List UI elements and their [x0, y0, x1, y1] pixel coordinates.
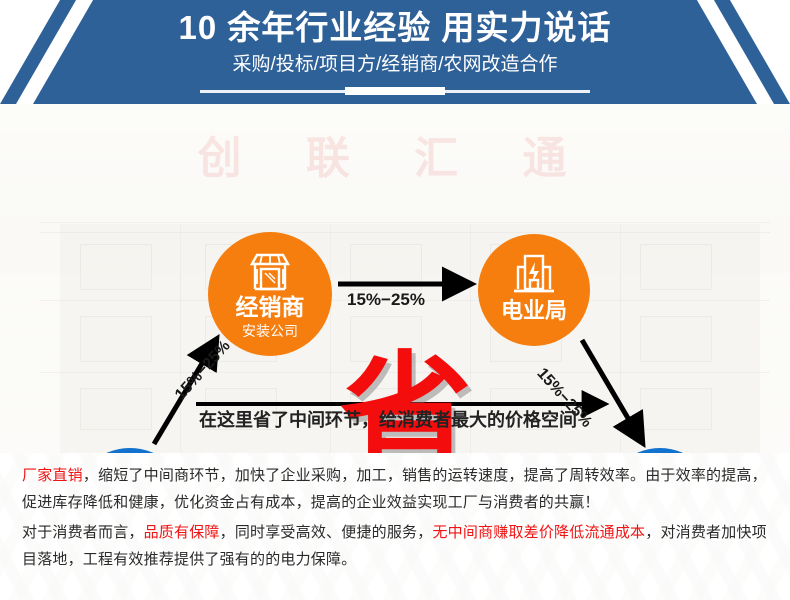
supply-chain-diagram: 创 联 汇 通 省 15%−25% 15%−25% 15%−25% 在这里省了中… [0, 104, 790, 453]
page-header: 10 余年行业经验 用实力说话 采购/投标/项目方/经销商/农网改造合作 [0, 0, 790, 104]
arrow-bureau-to-consumer [582, 340, 642, 442]
node-power-bureau-title: 电业局 [478, 298, 590, 324]
description-section: 厂家直销，缩短了中间商环节，加快了企业采购，加工，销售的运转速度，提高了周转效率… [0, 453, 790, 600]
node-power-bureau[interactable]: 电业局 [478, 234, 590, 346]
arrow-label-factory-to-consumer: 在这里省了中间环节，给消费者最大的价格空间 [199, 406, 577, 432]
paragraph-two-highlight-two: 无中间商赚取差价降低流通成本 [432, 524, 645, 541]
shop-icon [208, 250, 332, 294]
header-subtitle: 采购/投标/项目方/经销商/农网改造合作 [0, 52, 790, 78]
node-dealer-title: 经销商 [208, 294, 332, 321]
paragraph-one-highlight: 厂家直销 [22, 467, 83, 484]
promo-page: 10 余年行业经验 用实力说话 采购/投标/项目方/经销商/农网改造合作 [0, 0, 790, 600]
power-building-icon [478, 252, 590, 296]
paragraph-two: 对于消费者而言，品质有保障，同时享受高效、便捷的服务，无中间商赚取差价降低流通成… [22, 519, 770, 573]
paragraph-one: 厂家直销，缩短了中间商环节，加快了企业采购，加工，销售的运转速度，提高了周转效率… [22, 462, 770, 516]
node-dealer[interactable]: 经销商 安装公司 [208, 232, 332, 356]
header-title: 10 余年行业经验 用实力说话 [0, 7, 790, 49]
node-dealer-subtitle: 安装公司 [208, 322, 332, 340]
paragraph-one-rest: ，缩短了中间商环节，加快了企业采购，加工，销售的运转速度，提高了周转效率。由于效… [22, 467, 767, 511]
header-divider-center-block [345, 87, 445, 95]
header-content: 10 余年行业经验 用实力说话 采购/投标/项目方/经销商/农网改造合作 [0, 0, 790, 104]
save-glyph: 省 [316, 350, 496, 453]
paragraph-two-lead: 对于消费者而言， [22, 524, 144, 541]
paragraph-two-highlight-one: 品质有保障 [144, 524, 220, 541]
arrow-label-dealer-to-bureau: 15%−25% [347, 290, 425, 310]
paragraph-two-mid: ，同时享受高效、便捷的服务， [220, 524, 433, 541]
